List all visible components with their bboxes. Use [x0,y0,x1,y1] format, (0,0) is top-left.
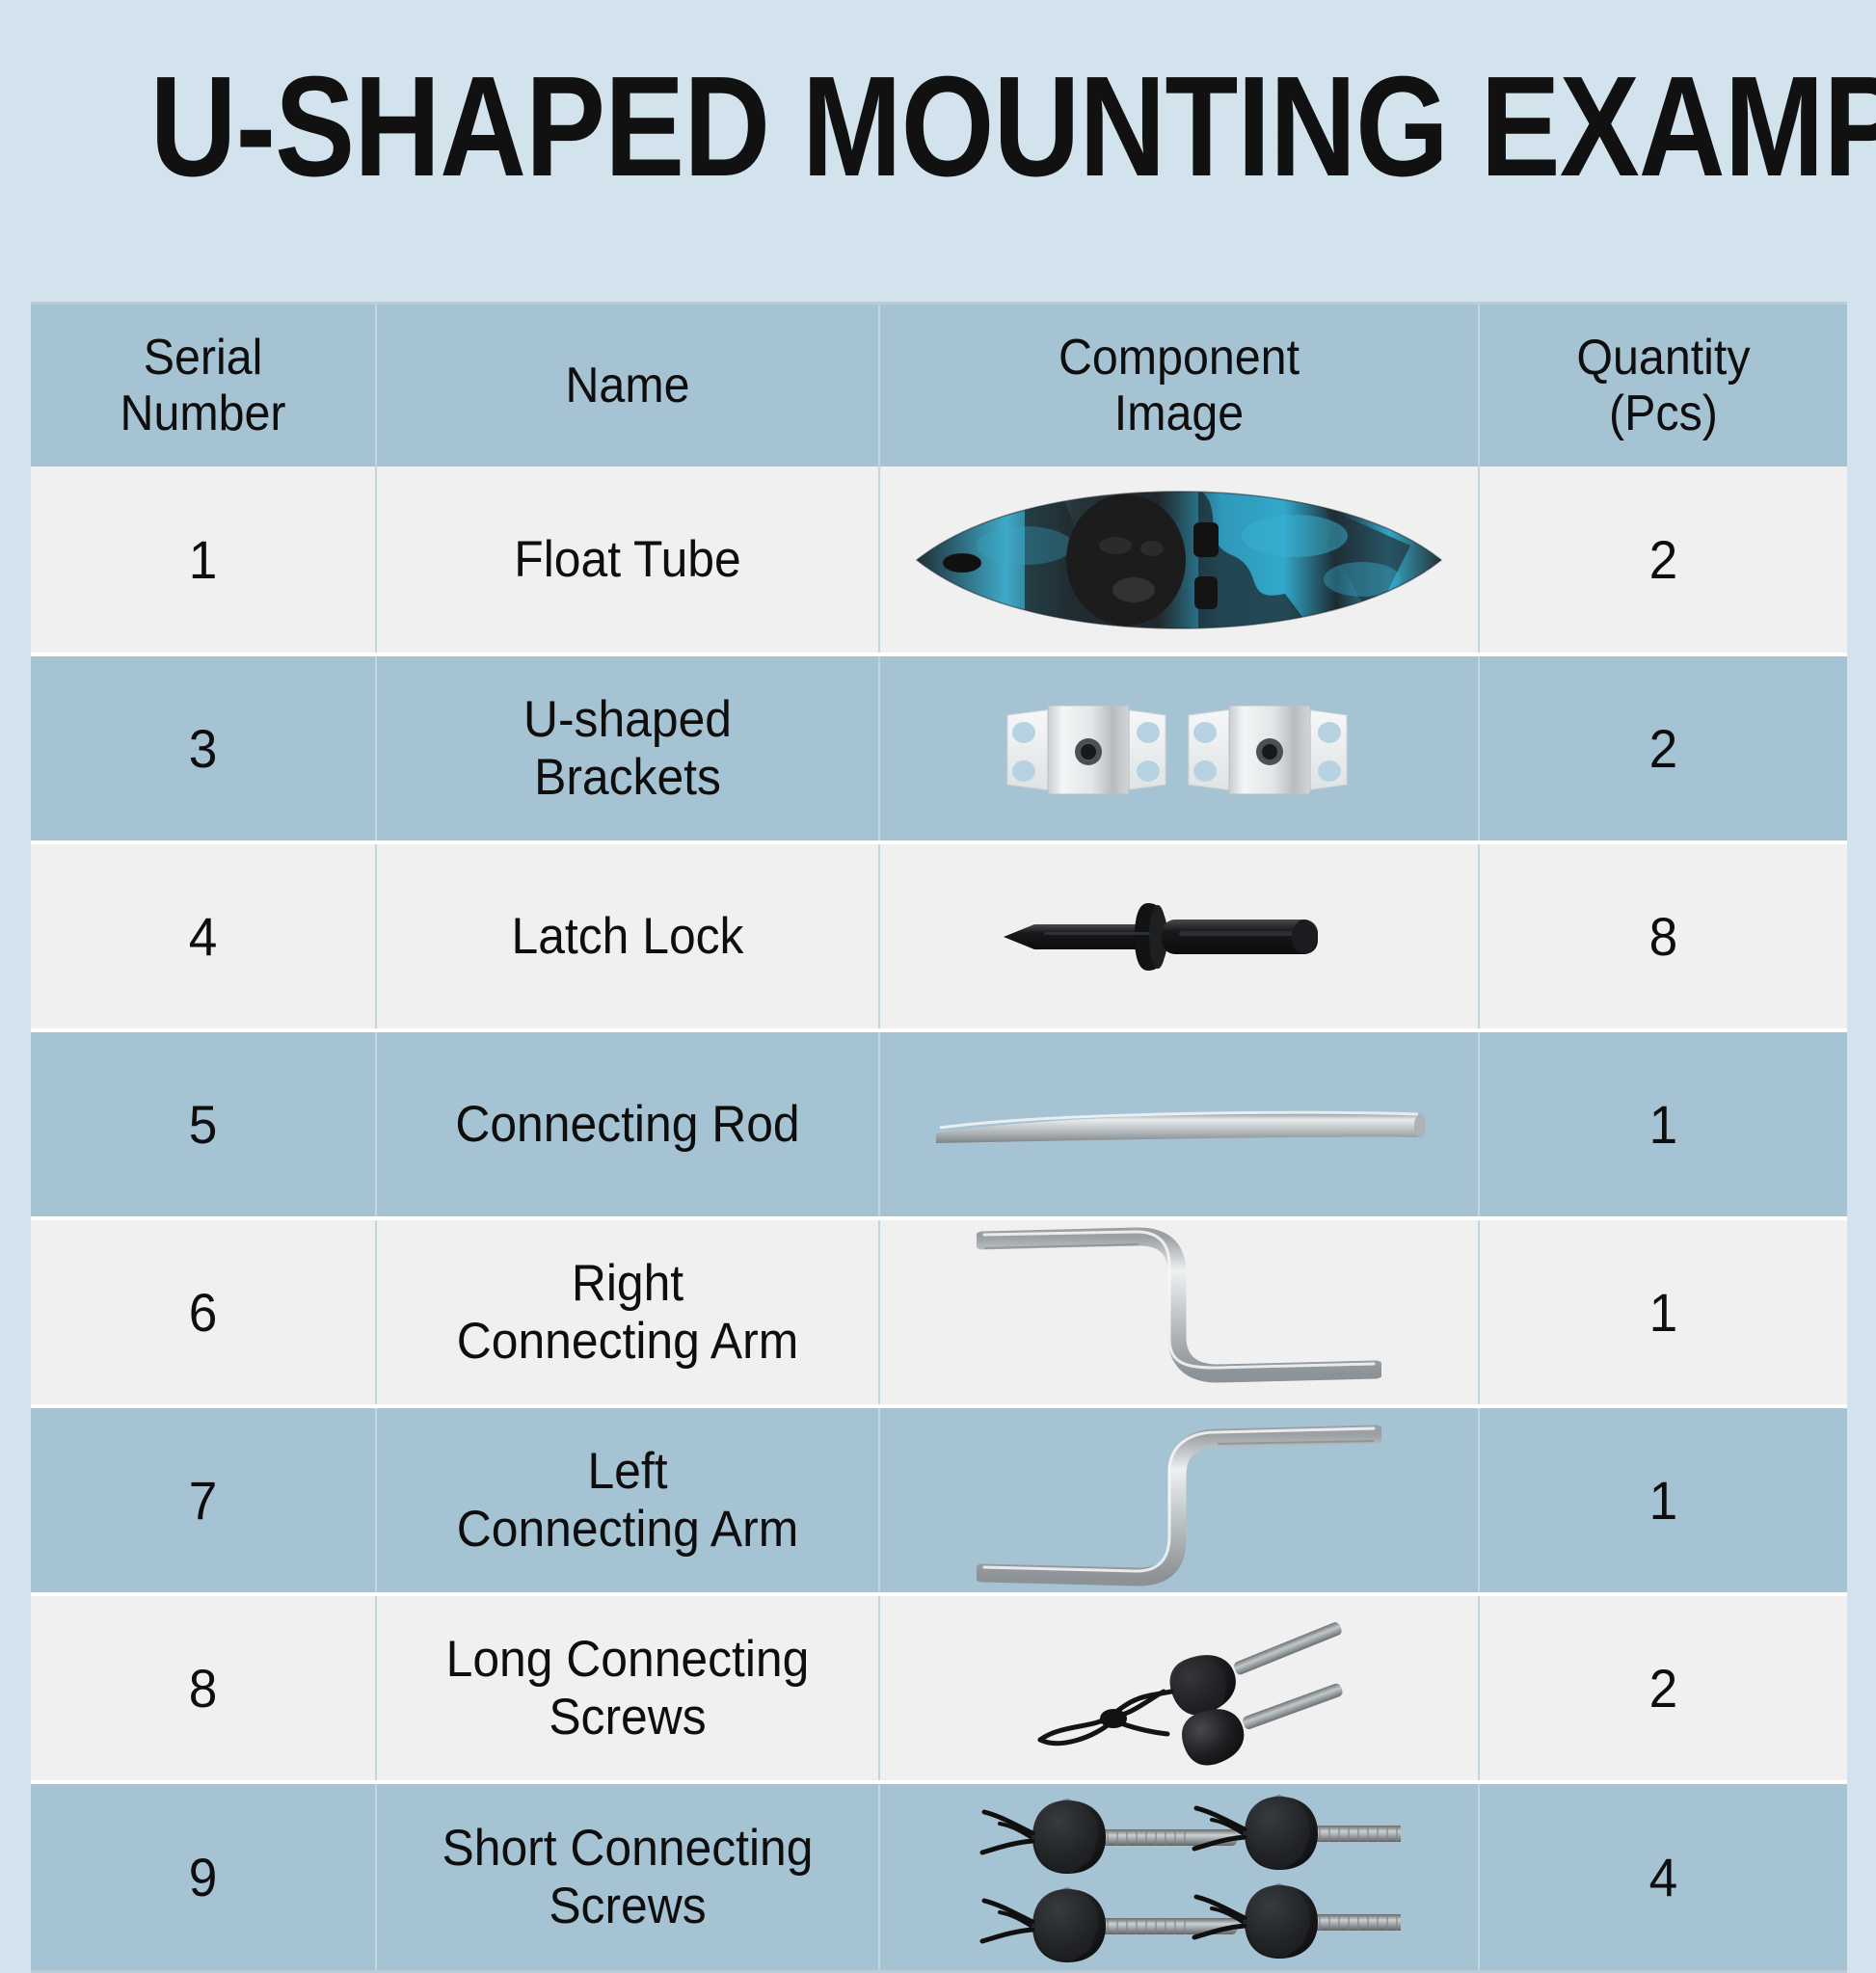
table-row: 6 Right Connecting Arm [31,1218,1847,1406]
cell-component-image [879,1030,1479,1218]
cell-quantity: 2 [1488,1594,1838,1782]
cell-serial-number: 3 [40,654,367,842]
cell-name-line2: Screws [392,1689,864,1746]
cell-quantity: 1 [1488,1406,1838,1594]
table-row: 4 Latch Lock [31,842,1847,1030]
latch-lock-pin-icon [986,884,1372,990]
column-header-component-image: Component Image [900,305,1458,467]
cell-serial-number: 5 [40,1030,367,1218]
cell-name: Left Connecting Arm [391,1406,865,1594]
column-header-name-label: Name [394,358,861,413]
cell-name: Connecting Rod [391,1030,865,1218]
cell-name-line1: U-shaped [392,691,864,748]
cell-quantity: 2 [1488,654,1838,842]
cell-name-line1: Right [392,1255,864,1312]
cell-component-image [879,1218,1479,1406]
table-row: 8 Long Connecting Screws [31,1594,1847,1782]
cell-serial-number: 4 [40,842,367,1030]
cell-serial-number: 7 [40,1406,367,1594]
u-shaped-brackets-icon [977,677,1381,821]
cell-name-line2: Screws [392,1878,864,1934]
table-header-row: Serial Number Name Component Image Quant… [31,305,1847,467]
column-header-quantity-line1: Quantity [1492,330,1834,386]
table-row: 7 Left Connecting Arm [31,1406,1847,1594]
column-header-serial-number-line2: Number [43,386,363,441]
column-header-serial-number-line1: Serial [43,330,363,386]
table-row: 5 Connecting Rod [31,1030,1847,1218]
table-row: 1 Float Tube [31,467,1847,654]
cell-name: Float Tube [391,467,865,654]
table-header: Serial Number Name Component Image Quant… [31,305,1847,467]
cell-name: Latch Lock [391,842,865,1030]
table-body: 1 Float Tube [31,467,1847,1970]
cell-name: Short Connecting Screws [391,1782,865,1970]
connecting-rod-icon [928,1091,1430,1159]
cell-quantity: 1 [1488,1218,1838,1406]
cell-quantity: 8 [1488,842,1838,1030]
cell-name-line1: Long Connecting [392,1631,864,1688]
column-header-component-image-line2: Image [901,386,1458,441]
cell-name-line1: Float Tube [392,531,864,588]
cell-component-image [879,842,1479,1030]
cell-quantity: 1 [1488,1030,1838,1218]
left-connecting-arm-icon [977,1411,1381,1589]
short-connecting-screws-icon [957,1791,1401,1964]
cell-name-line1: Latch Lock [392,908,864,965]
cell-serial-number: 1 [40,467,367,654]
column-header-name: Name [393,305,861,467]
column-header-serial-number: Serial Number [43,305,364,467]
cell-serial-number: 9 [40,1782,367,1970]
long-connecting-screws-icon [1005,1599,1353,1777]
cell-name-line2: Connecting Arm [392,1501,864,1558]
parts-list-page: U-SHAPED MOUNTING EXAMPLE Serial Number … [0,0,1876,1876]
table-row: 9 Short Connecting Screws [31,1782,1847,1970]
cell-component-image [879,654,1479,842]
parts-table-wrapper: Serial Number Name Component Image Quant… [31,302,1847,1973]
cell-component-image [879,1406,1479,1594]
cell-name-line1: Short Connecting [392,1820,864,1877]
column-header-quantity-line2: (Pcs) [1492,386,1834,441]
kayak-float-tube-icon [909,488,1449,632]
page-title: U-SHAPED MOUNTING EXAMPLE [150,56,1727,199]
cell-name-line1: Connecting Rod [392,1096,864,1153]
cell-component-image [879,467,1479,654]
cell-name-line1: Left [392,1443,864,1500]
table-row: 3 U-shaped Brackets [31,654,1847,842]
cell-name: Right Connecting Arm [391,1218,865,1406]
right-connecting-arm-icon [977,1223,1381,1401]
cell-serial-number: 6 [40,1218,367,1406]
cell-quantity: 4 [1488,1782,1838,1970]
column-header-component-image-line1: Component [901,330,1458,386]
cell-component-image [879,1594,1479,1782]
cell-component-image [879,1782,1479,1970]
cell-name-line2: Connecting Arm [392,1313,864,1370]
cell-name: Long Connecting Screws [391,1594,865,1782]
column-header-quantity: Quantity (Pcs) [1491,305,1834,467]
parts-table: Serial Number Name Component Image Quant… [31,305,1847,1970]
cell-serial-number: 8 [40,1594,367,1782]
cell-quantity: 2 [1488,467,1838,654]
cell-name: U-shaped Brackets [391,654,865,842]
cell-name-line2: Brackets [392,749,864,806]
